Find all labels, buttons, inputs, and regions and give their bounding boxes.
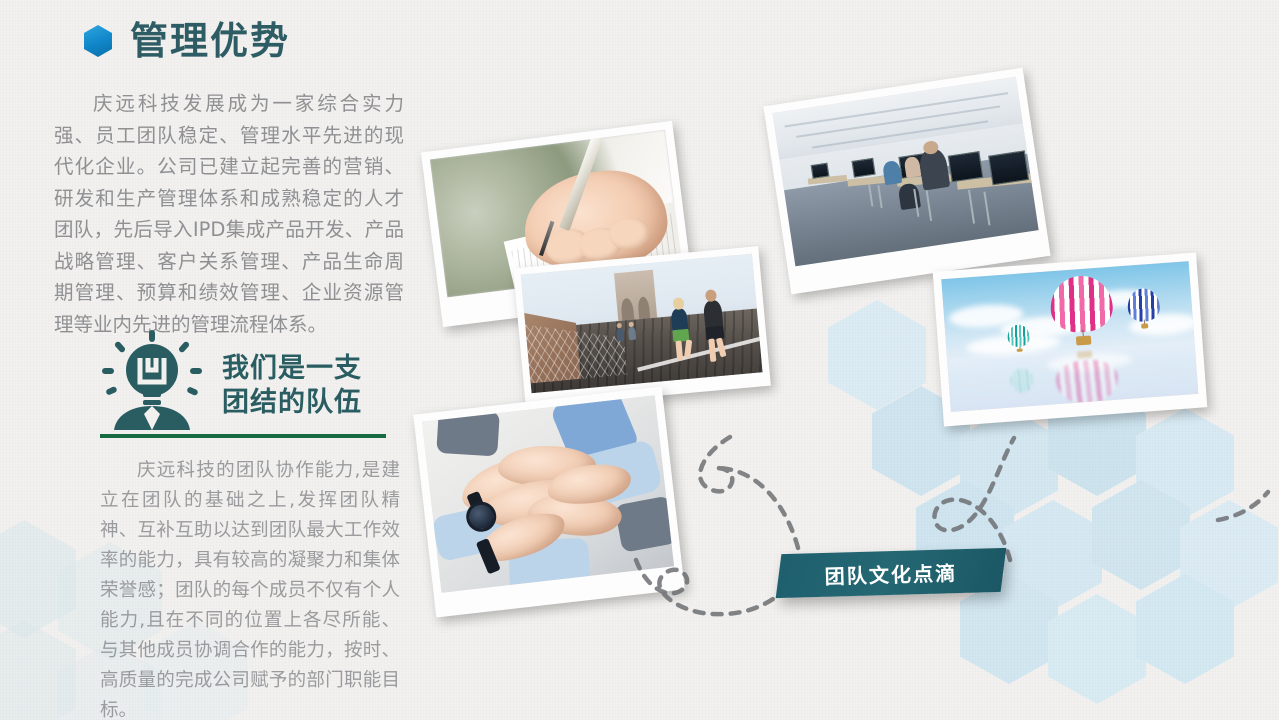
- photo-office-room[interactable]: [763, 68, 1050, 295]
- ribbon-banner[interactable]: 团队文化点滴: [776, 548, 1007, 598]
- ribbon-label: 团队文化点滴: [824, 557, 957, 590]
- slide-canvas: 管理优势 庆远科技发展成为一家综合实力强、员工团队稳定、管理水平先进的现代化企业…: [0, 0, 1279, 720]
- photo-hot-air-balloons[interactable]: [933, 253, 1208, 427]
- photo-runners-image: [521, 254, 763, 394]
- photo-runners[interactable]: [513, 246, 771, 408]
- photo-hands-together-image: [422, 395, 674, 592]
- photo-collage: [0, 0, 1279, 720]
- photo-hands-together[interactable]: [413, 387, 684, 618]
- photo-office-room-image: [772, 77, 1038, 267]
- photo-hot-air-balloons-image: [941, 261, 1198, 412]
